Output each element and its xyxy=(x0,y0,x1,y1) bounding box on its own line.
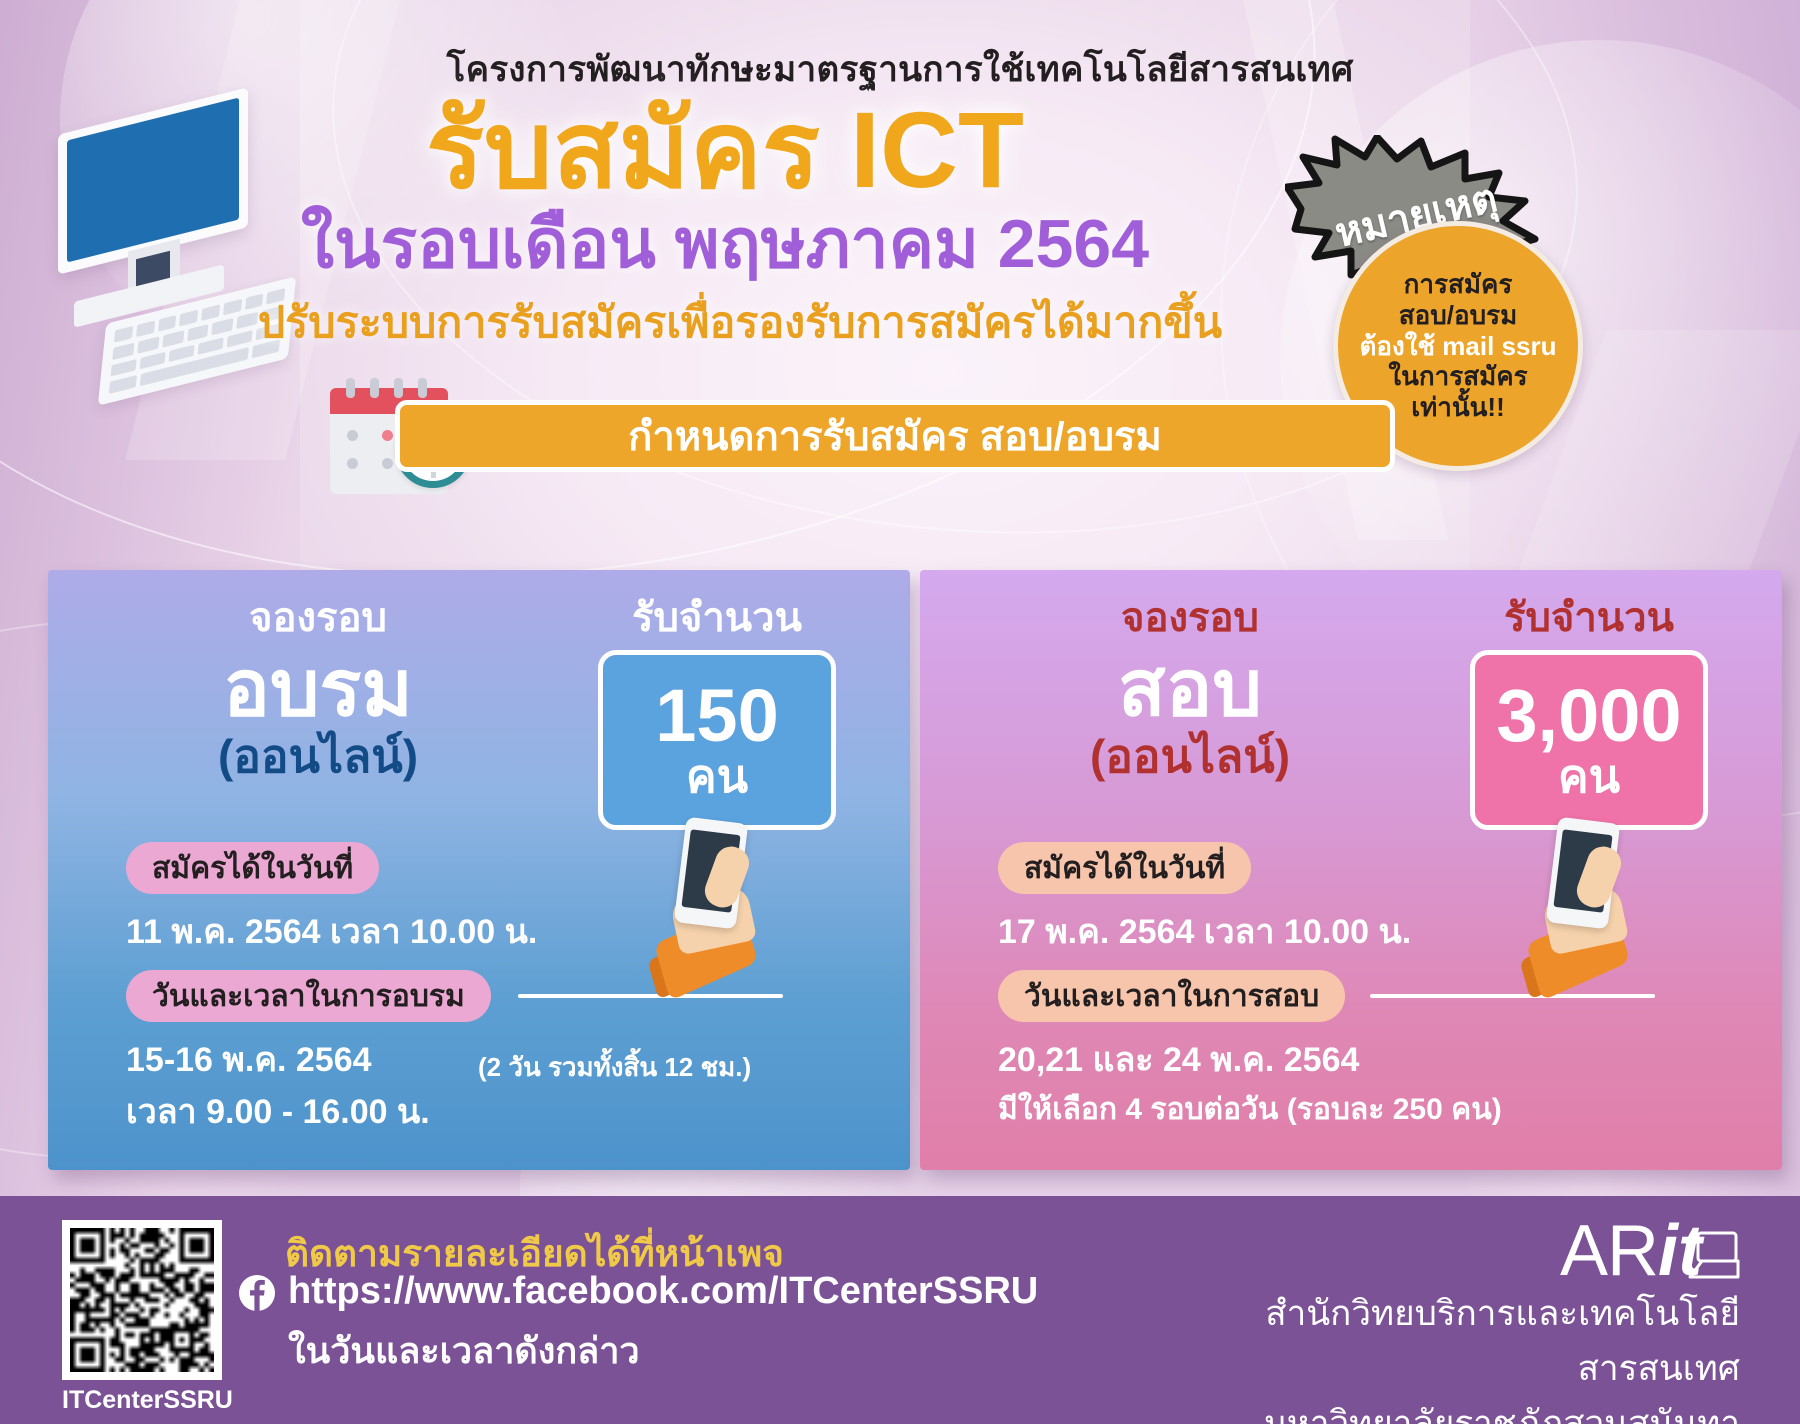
training-apply-date: 11 พ.ค. 2564 เวลา 10.00 น. xyxy=(126,912,537,953)
hand-holding-phone-icon xyxy=(1520,820,1650,990)
note-line-2: สอบ/อบรม xyxy=(1399,300,1517,331)
exam-event-time: มีให้เลือก 4 รอบต่อวัน (รอบละ 250 คน) xyxy=(998,1092,1502,1129)
note-line-5: เท่านั้น!! xyxy=(1411,392,1505,423)
exam-event-date: 20,21 และ 24 พ.ค. 2564 xyxy=(998,1040,1359,1081)
page-tagline: ปรับระบบการรับสมัครเพื่อรองรับการสมัครได… xyxy=(180,302,1300,345)
training-event-pill: วันและเวลาในการอบรม xyxy=(126,970,491,1022)
training-event-time: เวลา 9.00 - 16.00 น. xyxy=(126,1092,430,1133)
training-event-date: 15-16 พ.ค. 2564 xyxy=(126,1040,372,1081)
org-line-1: สำนักวิทยบริการและเทคโนโลยีสารสนเทศ xyxy=(1120,1286,1740,1396)
exam-apply-pill: สมัครได้ในวันที่ xyxy=(998,842,1251,894)
poster-root: โครงการพัฒนาทักษะมาตรฐานการใช้เทคโนโลยีส… xyxy=(0,0,1800,1424)
divider xyxy=(1370,994,1655,998)
note-line-3: ต้องใช้ mail ssru xyxy=(1360,331,1557,362)
monitor-icon xyxy=(1686,1231,1740,1281)
training-mode: (ออนไลน์) xyxy=(108,732,528,780)
training-qty-number: 150 xyxy=(655,680,778,753)
qr-label: ITCenterSSRU xyxy=(62,1386,242,1415)
training-qty-unit: คน xyxy=(686,752,748,800)
page-subtitle: ในรอบเดือน พฤษภาคม 2564 xyxy=(210,210,1240,278)
training-event-note: (2 วัน รวมทั้งสิ้น 12 ชม.) xyxy=(478,1052,751,1084)
schedule-bar: กำหนดการรับสมัคร สอบ/อบรม xyxy=(395,400,1395,472)
page-title: รับสมัคร ICT xyxy=(210,96,1240,204)
facebook-url[interactable]: https://www.facebook.com/ITCenterSSRU xyxy=(288,1270,1038,1313)
exam-qty-label: รับจำนวน xyxy=(1444,596,1734,640)
arit-logo: ARit xyxy=(1560,1210,1740,1284)
org-line-2: มหาวิทยาลัยราชภัฏสวนสุนันทา xyxy=(1120,1396,1740,1424)
training-apply-pill: สมัครได้ในวันที่ xyxy=(126,842,379,894)
schedule-bar-label: กำหนดการรับสมัคร สอบ/อบรม xyxy=(628,404,1162,468)
footer: ITCenterSSRU ติดตามรายละเอียดได้ที่หน้าเ… xyxy=(0,1196,1800,1424)
facebook-icon[interactable] xyxy=(238,1274,276,1312)
training-title: อบรม xyxy=(108,648,528,730)
exam-book-label: จองรอบ xyxy=(980,596,1400,640)
exam-event-pill: วันและเวลาในการสอบ xyxy=(998,970,1345,1022)
exam-card: จองรอบ สอบ (ออนไลน์) รับจำนวน 3,000 คน ส… xyxy=(920,570,1782,1170)
exam-qty-number: 3,000 xyxy=(1496,680,1681,753)
footer-time-line: ในวันและเวลาดังกล่าว xyxy=(288,1322,640,1379)
exam-qty-unit: คน xyxy=(1558,752,1620,800)
training-qty-label: รับจำนวน xyxy=(572,596,862,640)
note-line-1: การสมัคร xyxy=(1404,269,1513,300)
brand-ar-text: AR xyxy=(1560,1211,1658,1291)
hand-holding-phone-icon xyxy=(648,820,778,990)
brand-block: ARit สำนักวิทยบริการและเทคโนโลยีสารสนเทศ… xyxy=(1120,1210,1740,1424)
training-qty-box: 150 คน xyxy=(598,650,836,830)
note-line-4: ในการสมัคร xyxy=(1388,361,1527,392)
divider xyxy=(518,994,783,998)
qr-code[interactable] xyxy=(62,1220,222,1380)
exam-apply-date: 17 พ.ค. 2564 เวลา 10.00 น. xyxy=(998,912,1411,953)
exam-qty-box: 3,000 คน xyxy=(1470,650,1708,830)
exam-mode: (ออนไลน์) xyxy=(980,732,1400,780)
training-book-label: จองรอบ xyxy=(108,596,528,640)
training-card: จองรอบ อบรม (ออนไลน์) รับจำนวน 150 คน สม… xyxy=(48,570,910,1170)
exam-title: สอบ xyxy=(980,648,1400,730)
